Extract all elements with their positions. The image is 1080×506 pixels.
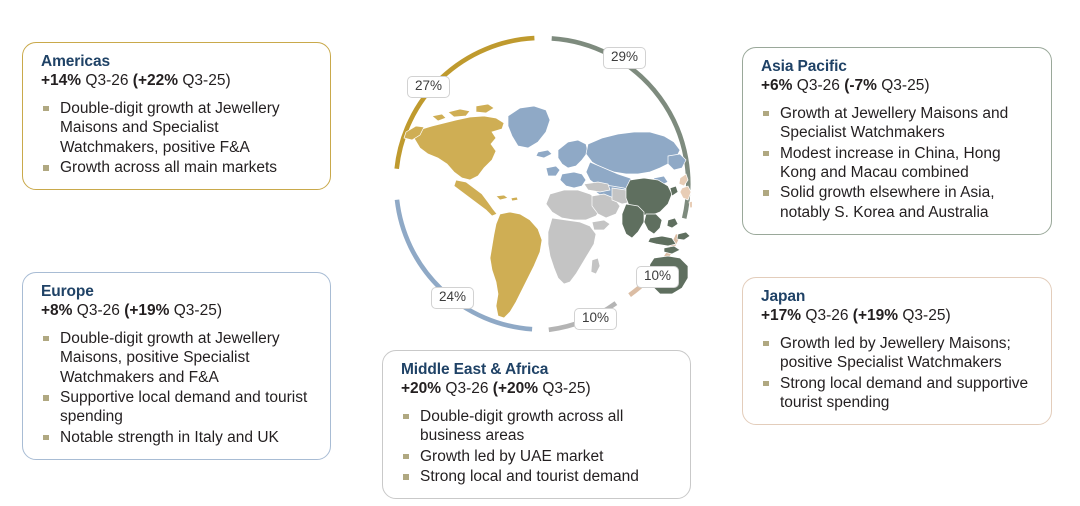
growth-current-period: Q3-26 [805,307,848,324]
card-growth-middle-east-africa: +20% Q3-26 (+20% Q3-25) [401,380,676,399]
bullet-square-icon [43,435,49,441]
card-bullet-list-americas: Double-digit growth at Jewellery Maisons… [41,99,316,178]
list-item: Growth led by UAE market [401,447,676,466]
card-title-americas: Americas [41,53,316,71]
bullet-square-icon [763,381,769,387]
growth-prior-value: (+20% [493,380,538,397]
growth-prior-value: (+19% [853,307,898,324]
list-item: Growth led by Jewellery Maisons; positiv… [761,334,1037,373]
bullet-square-icon [43,336,49,342]
bullet-square-icon [403,454,409,460]
percent-label-japan: 10% [636,266,679,288]
growth-current-value: +20% [401,380,441,397]
percent-label-asia-pacific: 29% [603,47,646,69]
region-card-japan: Japan +17% Q3-26 (+19% Q3-25) Growth led… [742,277,1052,425]
growth-current-value: +6% [761,77,792,94]
growth-current-period: Q3-26 [85,72,128,89]
list-item-text: Double-digit growth across all business … [420,408,623,444]
growth-prior-period: Q3-25) [902,307,950,324]
growth-prior-period: Q3-25) [174,302,222,319]
card-title-europe: Europe [41,283,316,301]
list-item-text: Modest increase in China, Hong Kong and … [780,145,1001,181]
growth-current-period: Q3-26 [445,380,488,397]
list-item-text: Double-digit growth at Jewellery Maisons… [60,330,280,386]
card-title-asia-pacific: Asia Pacific [761,58,1037,76]
bullet-square-icon [43,106,49,112]
card-bullet-list-japan: Growth led by Jewellery Maisons; positiv… [761,334,1037,413]
list-item: Solid growth elsewhere in Asia, notably … [761,183,1037,222]
bullet-square-icon [43,395,49,401]
growth-prior-period: Q3-25) [881,77,929,94]
percent-label-americas: 27% [407,76,450,98]
bullet-square-icon [43,165,49,171]
growth-prior-period: Q3-25) [542,380,590,397]
growth-current-period: Q3-26 [77,302,120,319]
list-item: Notable strength in Italy and UK [41,428,316,447]
region-card-americas: Americas +14% Q3-26 (+22% Q3-25) Double-… [22,42,331,190]
list-item: Strong local demand and supportive touri… [761,374,1037,413]
list-item: Double-digit growth across all business … [401,407,676,446]
region-card-asia-pacific: Asia Pacific +6% Q3-26 (-7% Q3-25) Growt… [742,47,1052,235]
card-growth-japan: +17% Q3-26 (+19% Q3-25) [761,307,1037,326]
list-item: Growth at Jewellery Maisons and Speciali… [761,104,1037,143]
card-title-middle-east-africa: Middle East & Africa [401,361,676,379]
growth-current-value: +17% [761,307,801,324]
card-title-japan: Japan [761,288,1037,306]
list-item: Modest increase in China, Hong Kong and … [761,144,1037,183]
list-item-text: Growth led by UAE market [420,448,603,465]
region-card-europe: Europe +8% Q3-26 (+19% Q3-25) Double-dig… [22,272,331,460]
card-bullet-list-middle-east-africa: Double-digit growth across all business … [401,407,676,487]
growth-prior-value: (-7% [844,77,877,94]
bullet-square-icon [763,151,769,157]
region-card-middle-east-africa: Middle East & Africa +20% Q3-26 (+20% Q3… [382,350,691,499]
list-item: Supportive local demand and tourist spen… [41,388,316,427]
list-item-text: Growth at Jewellery Maisons and Speciali… [780,105,1008,141]
list-item-text: Strong local and tourist demand [420,468,639,485]
percent-label-middle-east-africa: 10% [574,308,617,330]
card-growth-americas: +14% Q3-26 (+22% Q3-25) [41,72,316,91]
bullet-square-icon [763,111,769,117]
list-item-text: Notable strength in Italy and UK [60,429,279,446]
bullet-square-icon [763,341,769,347]
list-item: Double-digit growth at Jewellery Maisons… [41,99,316,157]
bullet-square-icon [403,474,409,480]
growth-prior-value: (+19% [124,302,169,319]
list-item: Double-digit growth at Jewellery Maisons… [41,329,316,387]
map-region-middle-east-africa [546,182,634,284]
percent-label-europe: 24% [431,287,474,309]
card-growth-asia-pacific: +6% Q3-26 (-7% Q3-25) [761,77,1037,96]
growth-current-value: +8% [41,302,72,319]
list-item-text: Double-digit growth at Jewellery Maisons… [60,100,280,156]
growth-current-value: +14% [41,72,81,89]
list-item: Strong local and tourist demand [401,467,676,486]
list-item-text: Solid growth elsewhere in Asia, notably … [780,184,995,220]
list-item-text: Growth across all main markets [60,159,277,176]
list-item-text: Strong local demand and supportive touri… [780,375,1028,411]
list-item-text: Growth led by Jewellery Maisons; positiv… [780,335,1011,371]
card-bullet-list-europe: Double-digit growth at Jewellery Maisons… [41,329,316,447]
card-bullet-list-asia-pacific: Growth at Jewellery Maisons and Speciali… [761,104,1037,222]
bullet-square-icon [403,414,409,420]
growth-prior-value: (+22% [133,72,178,89]
list-item: Growth across all main markets [41,158,316,177]
bullet-square-icon [763,190,769,196]
list-item-text: Supportive local demand and tourist spen… [60,389,307,425]
card-growth-europe: +8% Q3-26 (+19% Q3-25) [41,302,316,321]
growth-current-period: Q3-26 [797,77,840,94]
growth-prior-period: Q3-25) [182,72,230,89]
